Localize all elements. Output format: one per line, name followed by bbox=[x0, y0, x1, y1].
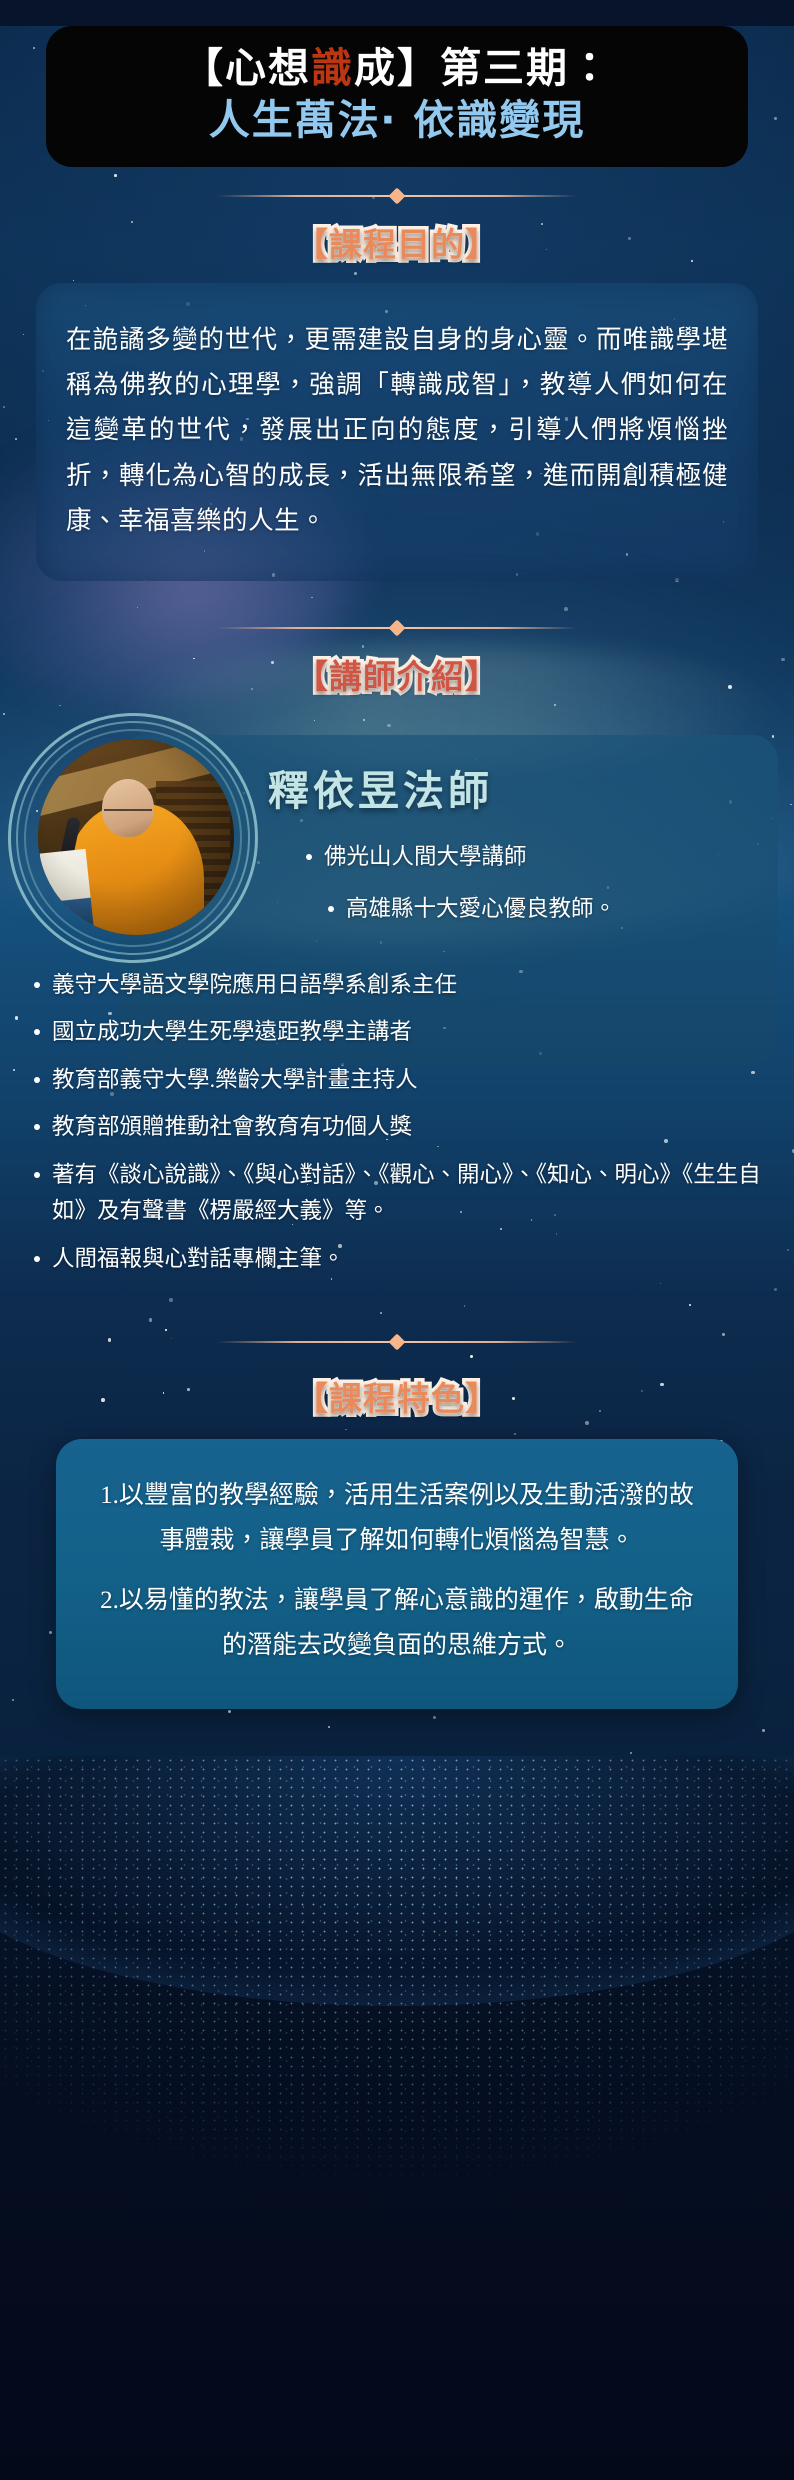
page-title-line-2: 人生萬法‧ 依識變現 bbox=[64, 94, 730, 146]
course-feature-item: 2.以易懂的教法，讓學員了解心意識的運作，啟動生命的潛能去改變負面的思維方式。 bbox=[90, 1578, 704, 1669]
instructor-portrait-icon bbox=[38, 739, 234, 935]
list-item: 佛光山人間大學講師 bbox=[300, 839, 770, 875]
title-segment-post: 成】第三期： bbox=[354, 44, 612, 92]
list-item: 著有《談心說識》、《與心對話》、《觀心、開心》、《知心、明心》《生生自如》及有聲… bbox=[28, 1157, 774, 1230]
instructor-credentials-list: 義守大學語文學院應用日語學系創系主任國立成功大學生死學遠距教學主講者教育部義守大… bbox=[28, 967, 774, 1288]
list-item: 高雄縣十大愛心優良教師。 bbox=[300, 891, 770, 927]
page-title-line-1: 【心想識成】第三期： bbox=[64, 42, 730, 94]
title-segment-pre: 【心想 bbox=[182, 44, 311, 92]
section-heading-instructor: 【講師介紹】 bbox=[0, 647, 794, 711]
instructor-portrait-frame bbox=[8, 713, 258, 963]
list-item: 人間福報與心對話專欄主筆。 bbox=[28, 1241, 774, 1277]
course-features-card: 1.以豐富的教學經驗，活用生活案例以及生動活潑的故事體裁，讓學員了解如何轉化煩惱… bbox=[56, 1439, 738, 1709]
divider-ornament-1 bbox=[0, 183, 794, 209]
diamond-ornament-icon bbox=[389, 187, 406, 204]
poster-title-plaque: 【心想識成】第三期： 人生萬法‧ 依識變現 bbox=[46, 26, 748, 167]
course-features-list: 1.以豐富的教學經驗，活用生活案例以及生動活潑的故事體裁，讓學員了解如何轉化煩惱… bbox=[90, 1473, 704, 1669]
portrait-vignette bbox=[38, 739, 234, 935]
instructor-name: 釋依昱法師 bbox=[268, 757, 493, 817]
instructor-section: 釋依昱法師 佛光山人間大學講師高雄縣十大愛心優良教師。 義守大學語文學院應用日語… bbox=[0, 713, 794, 1233]
terrain-wave-arc bbox=[0, 1756, 794, 2006]
course-purpose-card: 在詭譎多變的世代，更需建設自身的身心靈。而唯識學堪稱為佛教的心理學，強調「轉識成… bbox=[36, 283, 758, 582]
list-item: 義守大學語文學院應用日語學系創系主任 bbox=[28, 967, 774, 1003]
poster-content: 【心想識成】第三期： 人生萬法‧ 依識變現 【課程目的】 在詭譎多變的世代，更需… bbox=[0, 26, 794, 1709]
section-heading-features-label: 【課程特色】 bbox=[295, 1379, 499, 1418]
list-item: 教育部義守大學.樂齡大學計畫主持人 bbox=[28, 1062, 774, 1098]
course-purpose-body: 在詭譎多變的世代，更需建設自身的身心靈。而唯識學堪稱為佛教的心理學，強調「轉識成… bbox=[66, 317, 728, 544]
diamond-ornament-icon bbox=[389, 620, 406, 637]
digital-terrain-background bbox=[0, 1756, 794, 2480]
list-item: 國立成功大學生死學遠距教學主講者 bbox=[28, 1014, 774, 1050]
section-heading-purpose-label: 【課程目的】 bbox=[295, 225, 499, 264]
instructor-credentials-top: 佛光山人間大學講師高雄縣十大愛心優良教師。 bbox=[300, 839, 770, 944]
diamond-ornament-icon bbox=[389, 1334, 406, 1351]
course-feature-item: 1.以豐富的教學經驗，活用生活案例以及生動活潑的故事體裁，讓學員了解如何轉化煩惱… bbox=[90, 1473, 704, 1564]
section-heading-features: 【課程特色】 bbox=[0, 1361, 794, 1433]
section-heading-purpose: 【課程目的】 bbox=[0, 215, 794, 279]
title-segment-highlight: 識 bbox=[311, 44, 354, 92]
portrait-scene bbox=[38, 739, 234, 935]
divider-ornament-3 bbox=[0, 1329, 794, 1355]
section-heading-instructor-label: 【講師介紹】 bbox=[295, 657, 499, 696]
list-item: 教育部頒贈推動社會教育有功個人獎 bbox=[28, 1109, 774, 1145]
divider-ornament-2 bbox=[0, 615, 794, 641]
